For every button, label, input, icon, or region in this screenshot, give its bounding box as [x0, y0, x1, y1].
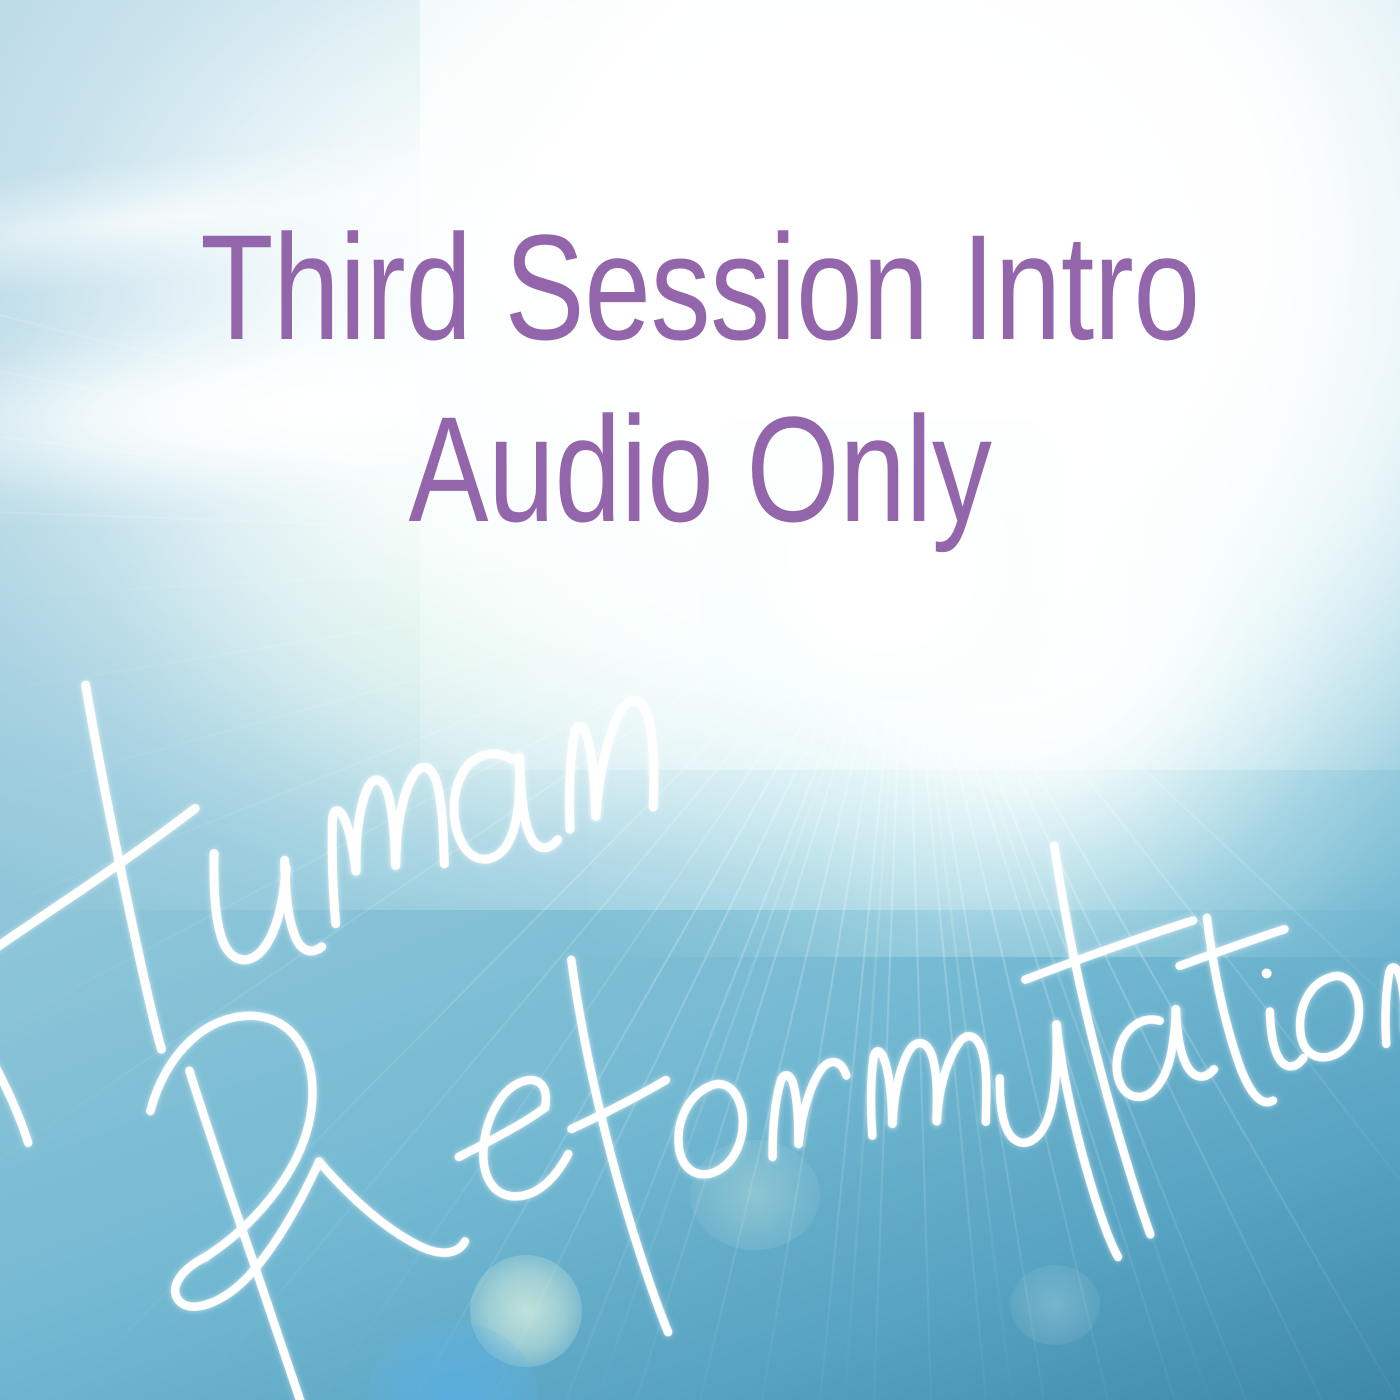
episode-title-line-1: Third Session Intro — [140, 196, 1260, 378]
episode-title-line-2: Audio Only — [140, 378, 1260, 560]
podcast-cover-art: Third Session Intro Audio Only — [0, 0, 1400, 1400]
background-green-tint-top — [336, 0, 812, 224]
episode-title-block: Third Session Intro Audio Only — [0, 196, 1400, 560]
